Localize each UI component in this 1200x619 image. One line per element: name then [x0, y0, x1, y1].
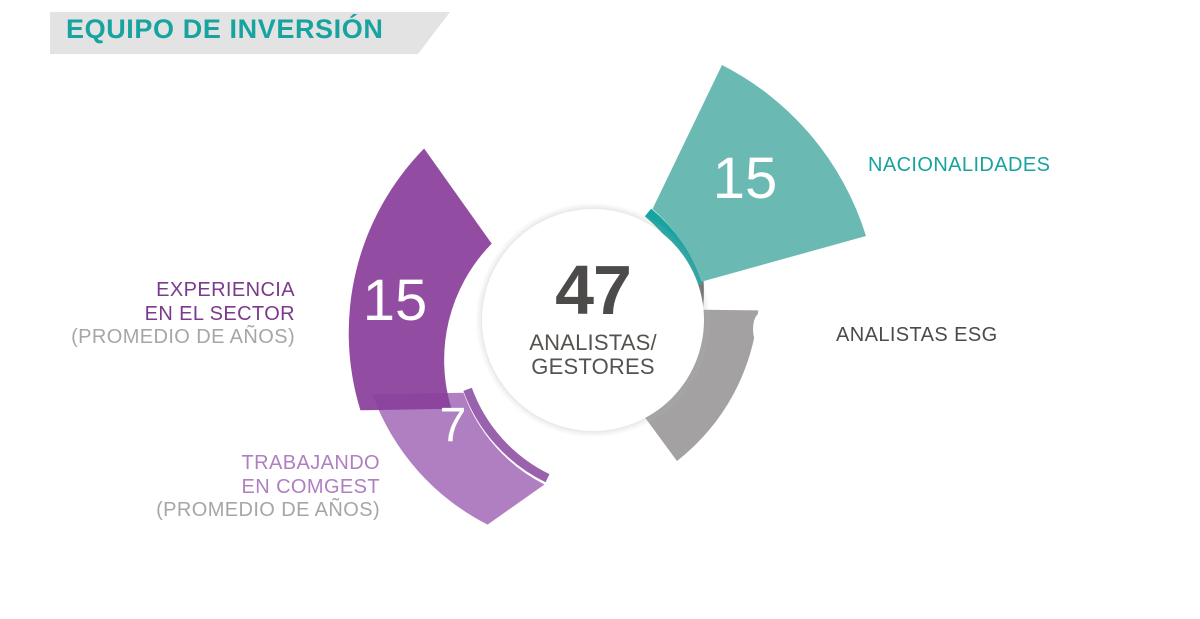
label-analistas-esg: ANALISTAS ESG [836, 324, 998, 348]
infographic-canvas: EQUIPO DE INVERSIÓN 15 6 [0, 0, 1200, 619]
label-trabajando-sublabel: (PROMEDIO DE AÑOS) [156, 499, 380, 523]
label-trabajando-line2: EN COMGEST [156, 476, 380, 500]
label-experiencia: EXPERIENCIA EN EL SECTOR (PROMEDIO DE AÑ… [71, 279, 295, 350]
center-circle [482, 209, 704, 431]
label-experiencia-line2: EN EL SECTOR [71, 303, 295, 327]
label-analistas-esg-text: ANALISTAS ESG [836, 324, 998, 348]
segment-value-experiencia: 15 [340, 272, 450, 330]
label-trabajando-line1: TRABAJANDO [156, 452, 380, 476]
label-experiencia-sublabel: (PROMEDIO DE AÑOS) [71, 326, 295, 350]
segment-value-analistas-esg: 6 [714, 306, 814, 354]
label-nacionalidades-text: NACIONALIDADES [868, 154, 1050, 178]
label-experiencia-line1: EXPERIENCIA [71, 279, 295, 303]
segment-value-trabajando: 7 [403, 402, 503, 450]
label-trabajando: TRABAJANDO EN COMGEST (PROMEDIO DE AÑOS) [156, 452, 380, 523]
label-nacionalidades: NACIONALIDADES [868, 154, 1050, 178]
segment-value-nacionalidades: 15 [690, 150, 800, 208]
